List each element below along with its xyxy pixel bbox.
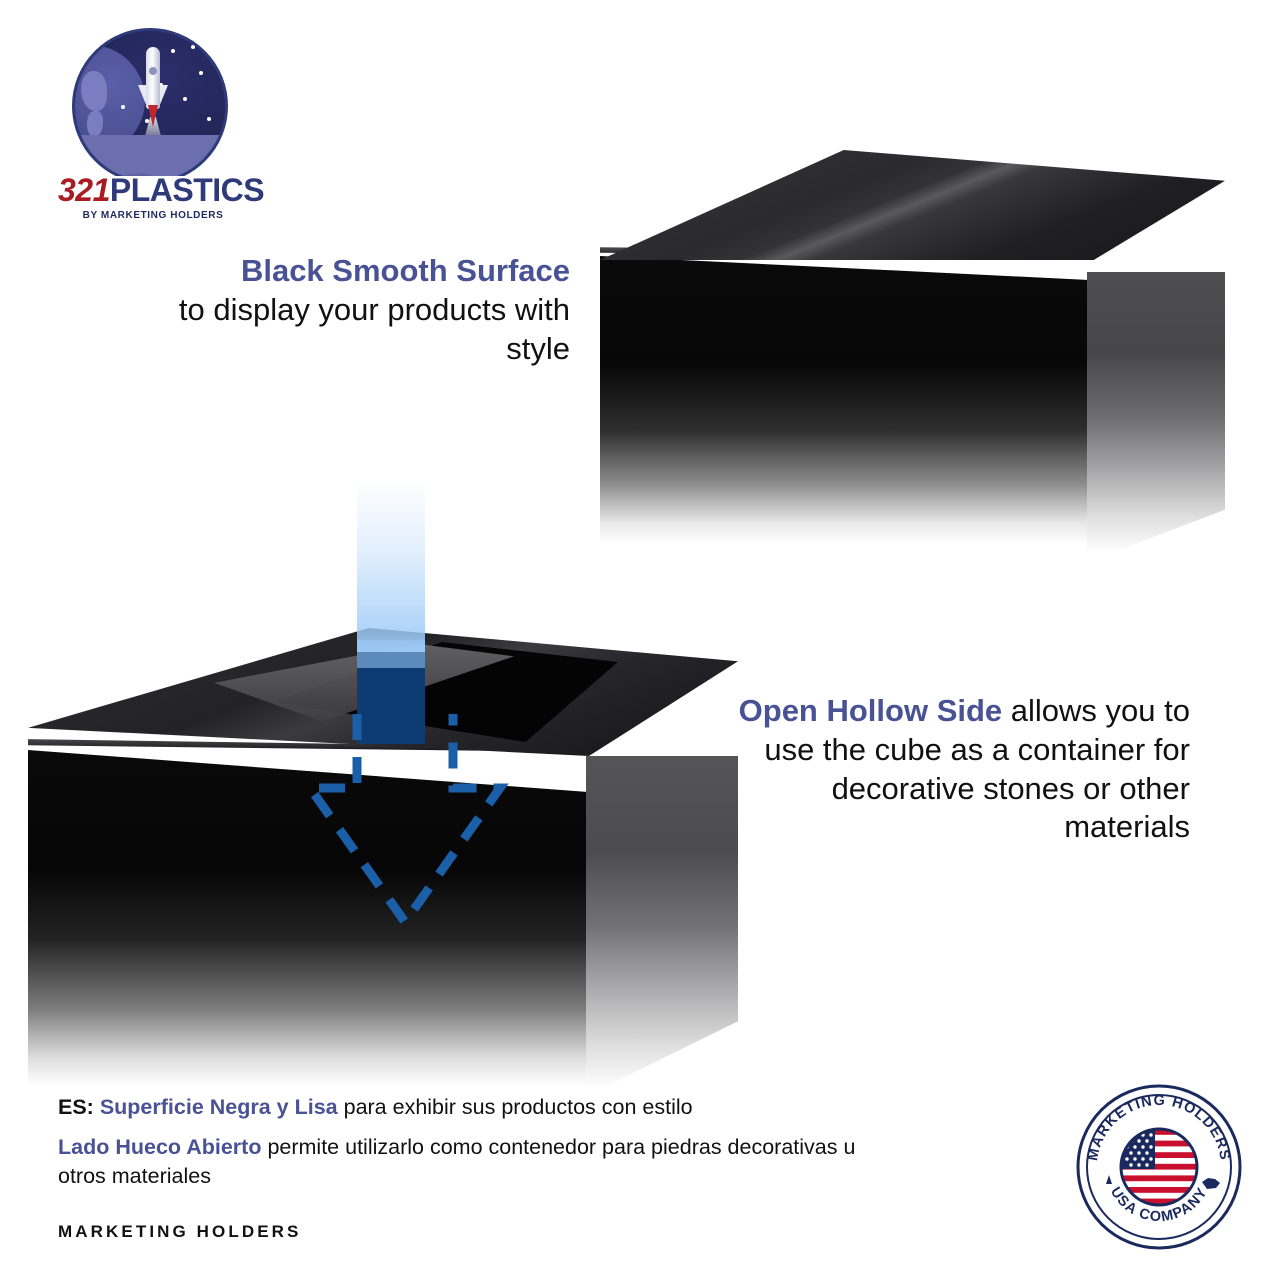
star-icon [207,117,211,121]
star-icon [121,105,125,109]
star-icon [171,49,175,53]
infographic-page: 321PLASTICS BY MARKETING HOLDERS Black S… [0,0,1280,1280]
logo-word: PLASTICS [110,172,264,208]
star-icon [191,45,195,49]
spanish-prefix: ES: [58,1095,94,1119]
cube-front-face [600,244,1089,544]
spanish-line1-body: para exhibir sus productos con estilo [344,1095,693,1119]
star-icon [183,97,187,101]
callout-bottom-highlight: Open Hollow Side [739,693,1003,728]
brand-logo: 321PLASTICS BY MARKETING HOLDERS [58,28,248,213]
cube-top-face [600,150,1225,260]
star-icon [199,71,203,75]
spanish-line-2: Lado Hueco Abierto permite utilizarlo co… [58,1133,888,1190]
logo-tagline: BY MARKETING HOLDERS [58,210,248,221]
closed-acrylic-cube-image [600,150,1225,550]
callout-top-body: to display your products with style [179,292,570,366]
callout-black-smooth-surface: Black Smooth Surface to display your pro… [110,252,570,368]
dashed-down-arrow-icon [280,714,530,929]
callout-top-highlight: Black Smooth Surface [241,253,570,288]
footer-brand-name: MARKETING HOLDERS [58,1222,301,1242]
arrow-beam-rim-overlay [357,640,425,668]
cube-right-face [1087,272,1225,562]
logo-number: 321 [58,172,110,208]
arrow-beam-upper [357,478,425,658]
spanish-line-1: ES: Superficie Negra y Lisa para exhibir… [58,1093,888,1121]
spanish-line2-highlight: Lado Hueco Abierto [58,1135,261,1159]
logo-space-circle [72,28,228,176]
spanish-line1-highlight: Superficie Negra y Lisa [100,1095,338,1119]
logo-badge-icon [72,28,232,176]
usa-company-badge-icon: MARKETING HOLDERS USA COMPANY [1076,1084,1242,1250]
callout-open-hollow-side: Open Hollow Side allows you to use the c… [700,692,1190,847]
spanish-translation-block: ES: Superficie Negra y Lisa para exhibir… [58,1093,888,1190]
cloud-icon [72,135,228,176]
logo-wordmark: 321PLASTICS [58,174,248,206]
